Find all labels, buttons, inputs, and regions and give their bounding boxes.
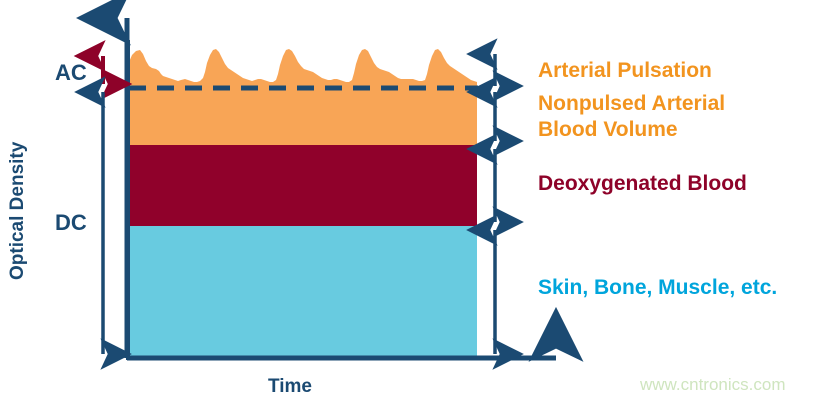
- legend-nonpulsed-arterial-line2: Blood Volume: [538, 118, 678, 141]
- watermark: www.cntronics.com: [639, 375, 785, 394]
- band-deoxygenated-blood: [129, 145, 477, 226]
- arterial-pulsation-waveform: [129, 49, 477, 88]
- x-axis-label: Time: [268, 376, 312, 397]
- band-tissue: [129, 226, 477, 358]
- legend-arterial-pulsation: Arterial Pulsation: [538, 59, 712, 82]
- legend-nonpulsed-arterial-line1: Nonpulsed Arterial: [538, 92, 725, 115]
- diagram-canvas: Optical Density Time AC DC Arterial Puls…: [0, 0, 825, 404]
- dc-label: DC: [55, 210, 87, 235]
- optical-density-diagram: Optical Density Time AC DC Arterial Puls…: [0, 0, 825, 404]
- ac-label: AC: [55, 60, 87, 85]
- y-axis-label: Optical Density: [7, 141, 28, 280]
- band-nonpulsed-arterial: [129, 88, 477, 145]
- legend-deoxygenated-blood: Deoxygenated Blood: [538, 172, 747, 195]
- legend-tissue: Skin, Bone, Muscle, etc.: [538, 276, 777, 299]
